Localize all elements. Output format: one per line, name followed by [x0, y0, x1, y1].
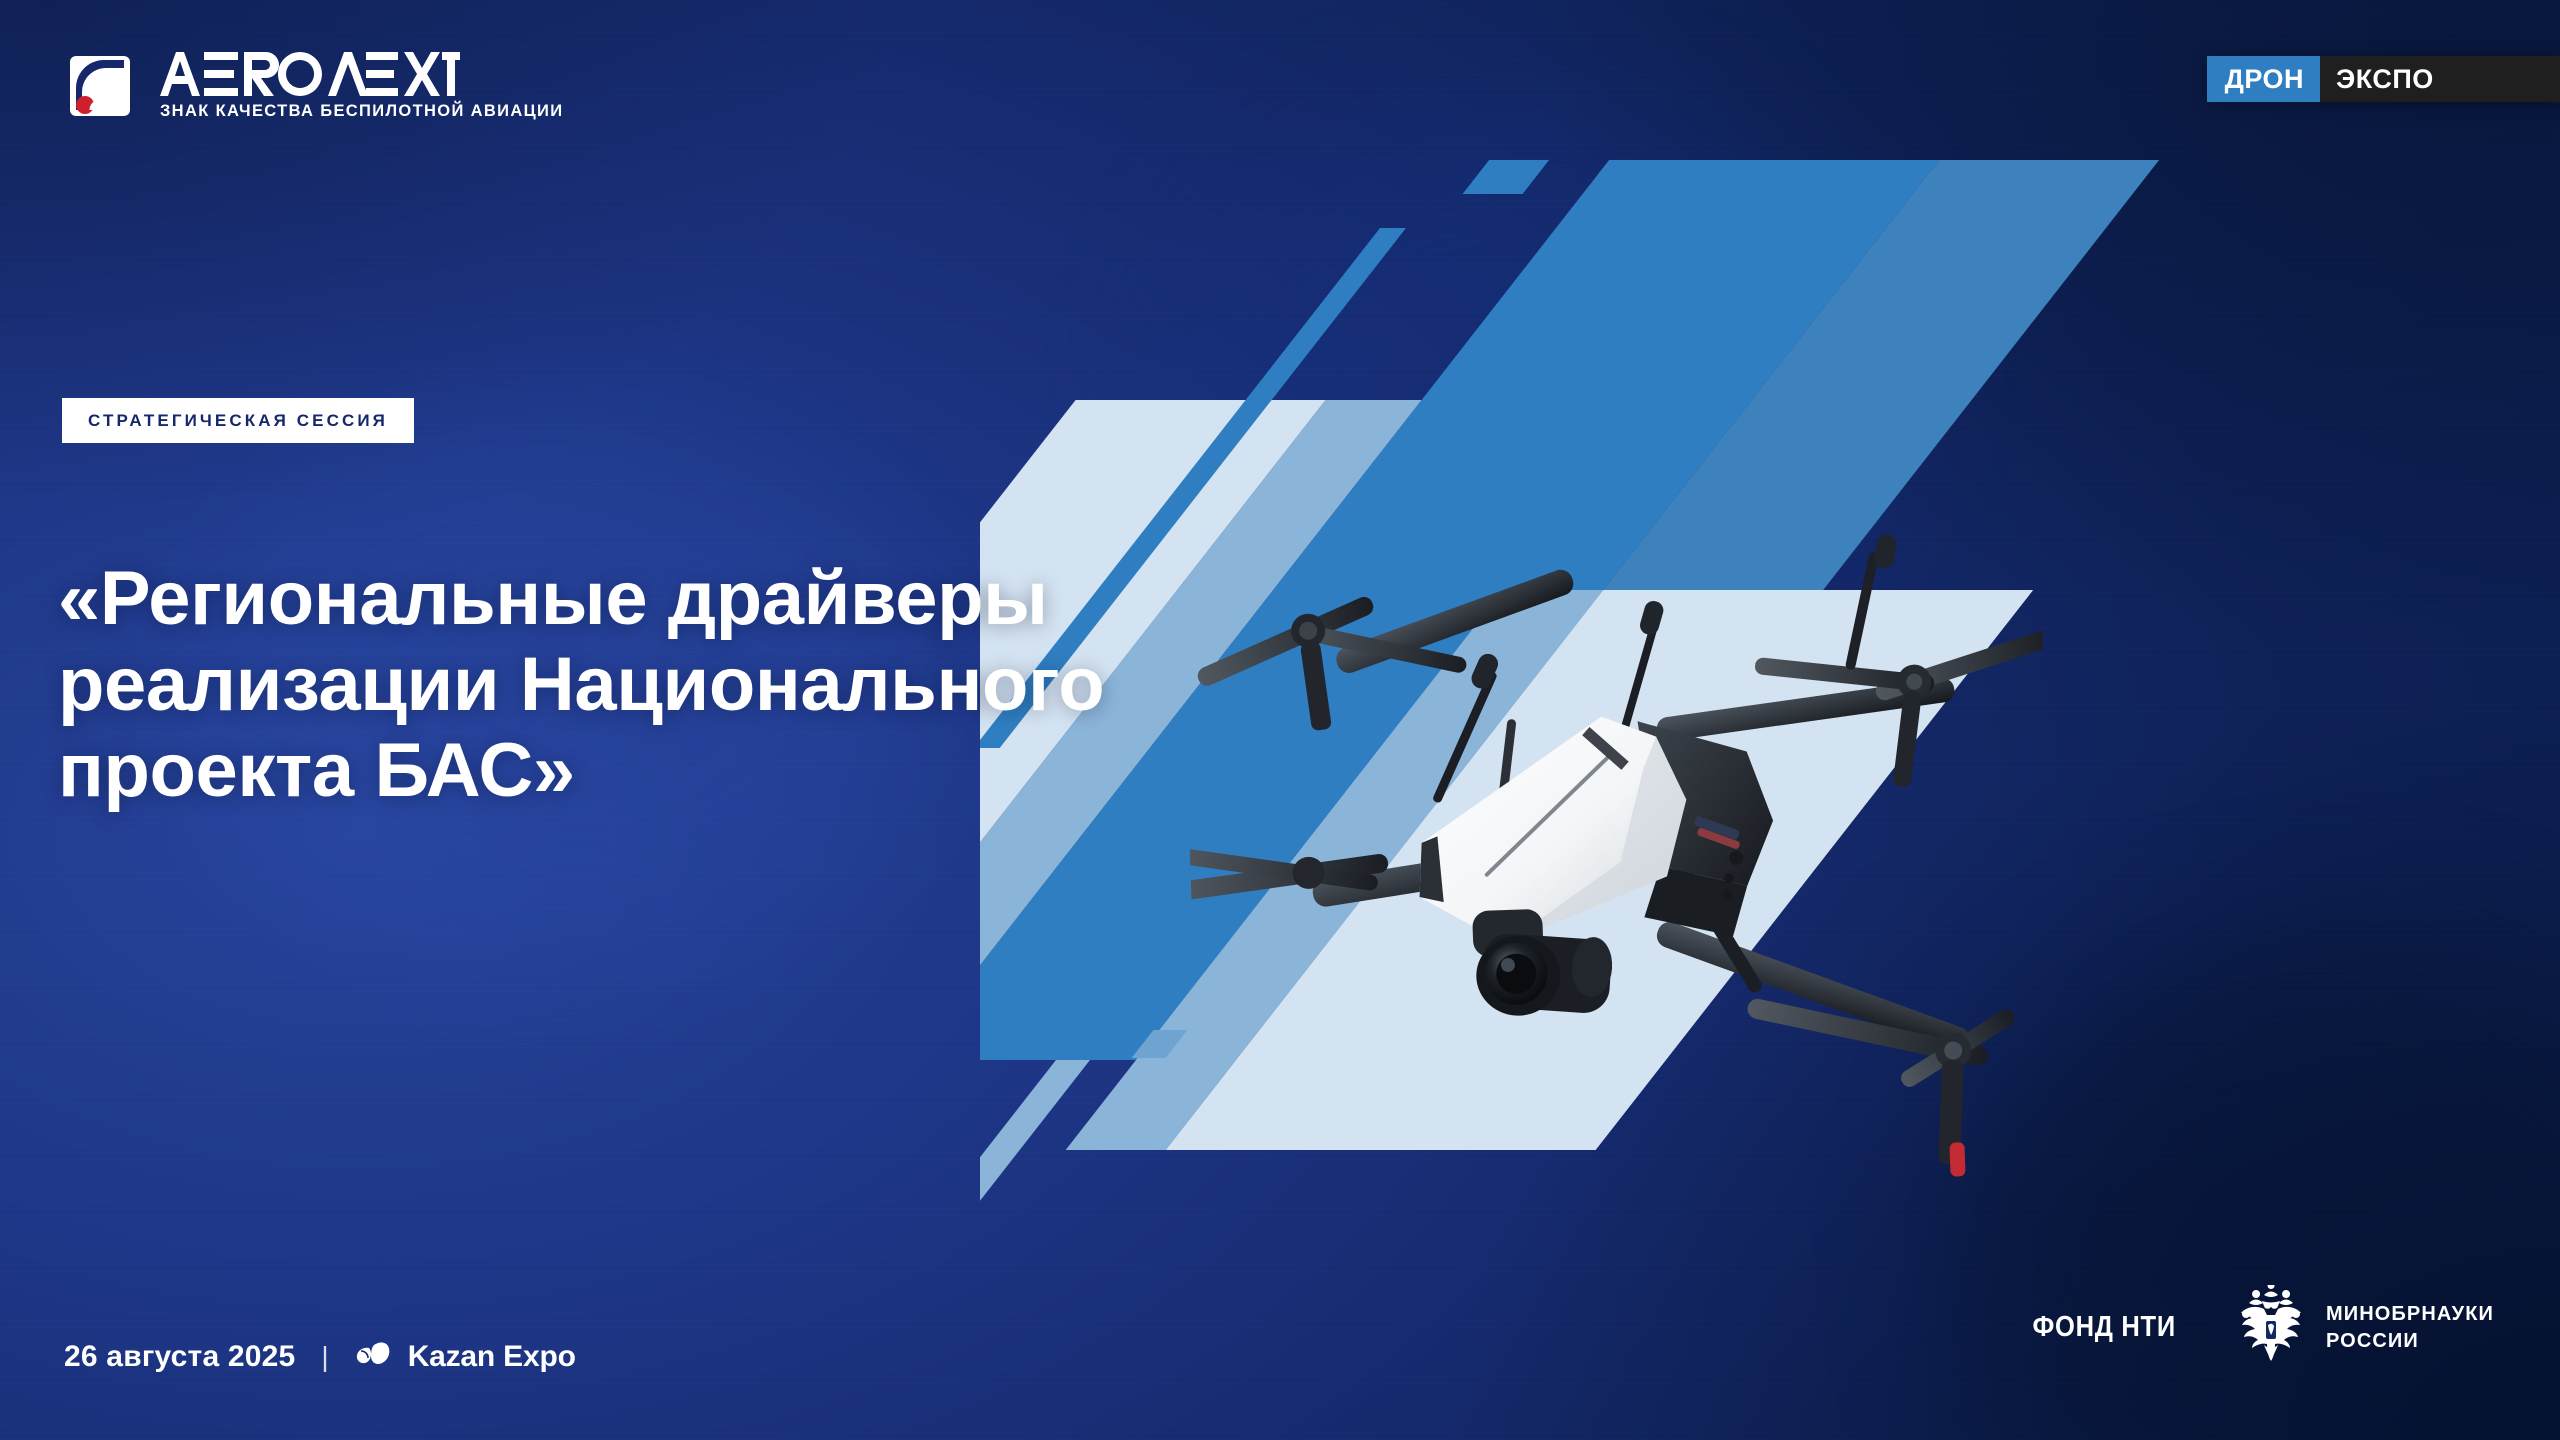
kazan-expo-logo: Kazan Expo — [355, 1340, 576, 1374]
landing-light — [1949, 1142, 1965, 1177]
antenna — [1845, 551, 1880, 670]
minobrnauki-line-1: МИНОБРНАУКИ — [2326, 1301, 2494, 1327]
aeronext-logo[interactable]: ЗНАК КАЧЕСТВА БЕСПИЛОТНОЙ АВИАЦИИ — [62, 48, 563, 124]
aeronext-tagline: ЗНАК КАЧЕСТВА БЕСПИЛОТНОЙ АВИАЦИИ — [160, 102, 563, 121]
event-meta: 26 августа 2025 | Kazan Expo — [64, 1340, 576, 1374]
drone-svg — [1177, 455, 2063, 1245]
kazan-expo-tulip-icon — [355, 1341, 395, 1374]
dron-expo-badge-expo: ЭКСПО — [2320, 56, 2560, 102]
aeronext-signal-mark-icon — [62, 48, 138, 124]
minobrnauki-logo: МИНОБРНАУКИ РОССИИ — [2234, 1285, 2494, 1370]
aeronext-wordmark-icon — [160, 52, 563, 98]
russian-coat-of-arms-icon — [2234, 1285, 2308, 1370]
fond-nti-wordmark-icon: ФОНД НТИ — [2033, 1311, 2176, 1344]
title-line-3: проекта БАС» — [58, 728, 1288, 814]
aeronext-wordmark-block: ЗНАК КАЧЕСТВА БЕСПИЛОТНОЙ АВИАЦИИ — [160, 52, 563, 121]
dron-expo-badge-dron: ДРОН — [2207, 56, 2320, 102]
event-date: 26 августа 2025 — [64, 1340, 295, 1374]
presentation-slide: ЗНАК КАЧЕСТВА БЕСПИЛОТНОЙ АВИАЦИИ ДРОН Э… — [0, 0, 2560, 1440]
title-line-1: «Региональные драйверы — [58, 556, 1288, 642]
session-kicker-badge: СТРАТЕГИЧЕСКАЯ СЕССИЯ — [62, 398, 414, 443]
drone-arm-front-right — [1653, 906, 2023, 1186]
partner-logos: ФОНД НТИ — [2013, 1285, 2494, 1370]
quadcopter-drone-image — [1177, 455, 2063, 1245]
title-line-2: реализации Национального — [58, 642, 1288, 728]
minobrnauki-line-2: РОССИИ — [2326, 1328, 2494, 1354]
kazan-expo-name: Kazan Expo — [408, 1340, 576, 1374]
page-title: «Региональные драйверы реализации Национ… — [58, 556, 1288, 814]
dron-expo-badge[interactable]: ДРОН ЭКСПО — [2207, 56, 2560, 102]
stripe-strong-tick — [1463, 160, 1550, 194]
drone-body — [1413, 711, 1777, 947]
minobrnauki-text: МИНОБРНАУКИ РОССИИ — [2326, 1301, 2494, 1354]
meta-separator: | — [321, 1341, 328, 1373]
